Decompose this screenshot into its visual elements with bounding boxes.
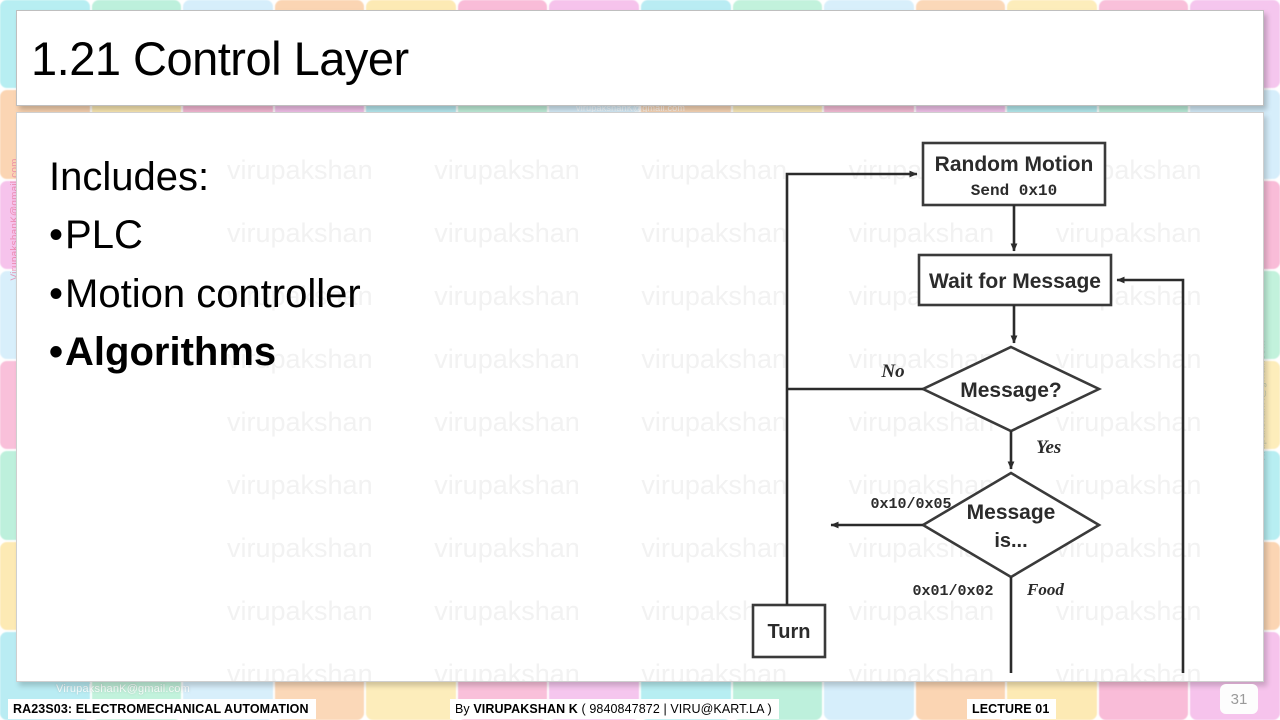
footer-author-prefix: By (455, 702, 473, 716)
page-title: 1.21 Control Layer (17, 31, 409, 86)
node-message-is-label-line2: is... (994, 530, 1027, 552)
bullet-dot-icon: • (49, 215, 63, 255)
list-item: • Motion controller (49, 265, 609, 323)
node-random-motion-label: Random Motion (935, 153, 1094, 176)
list-item-label: PLC (65, 206, 143, 264)
slide-canvas: VirupakshanK@gmail.com VirupakshanK@gmai… (0, 0, 1280, 720)
watermark-bottom-left-email: VirupakshanK@gmail.com (56, 683, 190, 695)
footer-author-label: By VIRUPAKSHAN K ( 9840847872 | VIRU@KAR… (450, 699, 779, 719)
node-message-question-label: Message? (960, 379, 1062, 402)
watermark-text: virupakshan (434, 659, 641, 682)
watermark-text: virupakshan (434, 470, 641, 533)
slide-number-badge: 31 (1220, 684, 1258, 714)
footer-course-label: RA23S03: ELECTROMECHANICAL AUTOMATION (8, 699, 316, 719)
watermark-text: virupakshan (227, 407, 434, 470)
flowchart-figure: Random Motion Send 0x10 Wait for Message… (721, 123, 1241, 673)
edge-label-turn-codes: 0x10/0x05 (870, 496, 951, 513)
watermark-text: virupakshan (227, 470, 434, 533)
list-item: • PLC (49, 206, 609, 264)
bullet-dot-icon: • (49, 274, 63, 314)
content-lead: Includes: (49, 148, 609, 206)
slide-body-plate: virupakshanvirupakshanvirupakshanvirupak… (16, 112, 1264, 682)
node-turn-label: Turn (768, 621, 811, 643)
list-item-label: Motion controller (65, 265, 361, 323)
watermark-text: virupakshan (434, 407, 641, 470)
bullet-content: Includes: • PLC • Motion controller • Al… (49, 148, 609, 382)
list-item: • Algorithms (49, 323, 609, 381)
footer-lecture-label: LECTURE 01 (967, 699, 1056, 719)
edge-label-food-codes: 0x01/0x02 (912, 583, 993, 600)
node-message-is-diamond (923, 473, 1099, 577)
watermark-text: virupakshan (227, 533, 434, 596)
edge-label-yes: Yes (1036, 437, 1061, 458)
slide-title-plate: 1.21 Control Layer (16, 10, 1264, 106)
watermark-text: virupakshan (434, 533, 641, 596)
node-wait-label: Wait for Message (929, 270, 1101, 293)
node-random-motion-code: Send 0x10 (971, 182, 1057, 200)
footer-author-contact: ( 9840847872 | VIRU@KART.LA ) (578, 702, 772, 716)
bullet-list: • PLC • Motion controller • Algorithms (49, 206, 609, 381)
node-message-is-label-line1: Message (967, 501, 1056, 524)
edge-stop-to-wait (1107, 280, 1183, 673)
bullet-dot-icon: • (49, 332, 63, 372)
footer-author-name: VIRUPAKSHAN K (473, 702, 578, 716)
edge-label-food: Food (1026, 580, 1064, 599)
watermark-text: virupakshan (227, 596, 434, 659)
watermark-text: virupakshan (434, 596, 641, 659)
watermark-text: virupakshan (227, 659, 434, 682)
list-item-label: Algorithms (65, 323, 276, 381)
edge-label-no: No (880, 361, 904, 382)
